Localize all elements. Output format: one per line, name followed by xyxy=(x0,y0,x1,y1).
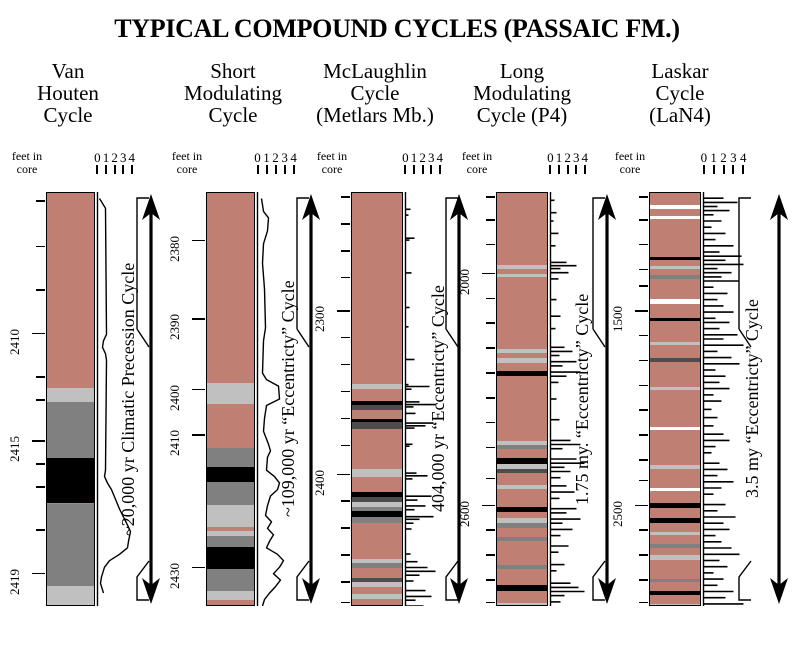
rank-scale-tick xyxy=(284,165,286,174)
depth-tick xyxy=(341,196,350,198)
depth-tick xyxy=(341,223,350,225)
depth-tick xyxy=(639,602,648,604)
depth-tick xyxy=(639,579,648,581)
litho-band xyxy=(650,548,700,555)
heading-line: (Metlars Mb.) xyxy=(300,104,450,126)
litho-band xyxy=(650,523,700,532)
rank-scale-label: 3 xyxy=(281,150,288,166)
litho-band xyxy=(497,528,547,538)
rank-scale-ticks xyxy=(254,165,298,174)
depth-tick xyxy=(192,434,205,436)
rank-scale-tick xyxy=(404,165,406,174)
depth-label: 2410 xyxy=(167,412,183,456)
litho-band xyxy=(207,569,254,591)
depth-tick xyxy=(341,500,350,502)
litho-band xyxy=(497,193,547,265)
litho-band xyxy=(47,193,94,388)
litho-band xyxy=(207,600,254,606)
litho-band xyxy=(352,477,402,492)
depth-tick xyxy=(341,445,350,447)
feet-in-core-label-van-houten: feet incore xyxy=(1,150,53,175)
depth-label: 1500 xyxy=(610,288,626,332)
litho-band xyxy=(352,523,402,559)
cycle-arrow-laskar xyxy=(768,194,790,604)
depth-tick xyxy=(639,409,648,411)
depth-rank-scale-van-houten: 01234 xyxy=(94,150,136,174)
rank-scale-tick xyxy=(584,165,586,174)
depth-tick xyxy=(482,273,495,275)
cycle-annotation-short-modulating: ~109,000 yr “Eccentricty” Cycle xyxy=(278,200,299,598)
depth-tick xyxy=(486,447,495,449)
rank-scale-label: 3 xyxy=(573,150,580,166)
rank-scale-tick xyxy=(266,165,268,174)
depth-tick xyxy=(639,554,648,556)
depth-tick xyxy=(486,298,495,300)
depth-rank-scale-laskar: 01234 xyxy=(700,150,748,174)
heading-line: Short xyxy=(168,60,298,82)
depth-rank-scale-mclaughlin: 01234 xyxy=(402,150,444,174)
litho-band xyxy=(650,193,700,205)
litho-band xyxy=(650,279,700,300)
rank-scale-label: 2 xyxy=(111,150,118,166)
depth-tick xyxy=(341,602,350,604)
rank-scale-tick xyxy=(439,165,441,174)
feet-in-core-label-mclaughlin: feet incore xyxy=(306,150,358,175)
rank-scale-tick xyxy=(732,165,734,174)
depth-tick xyxy=(341,391,350,393)
depth-axis-long-modulating: 20002600 xyxy=(455,192,495,606)
depth-tick xyxy=(639,244,648,246)
heading-line: Cycle xyxy=(8,104,128,126)
depth-tick xyxy=(486,579,495,581)
depth-tick xyxy=(337,310,350,312)
litho-band xyxy=(207,404,254,448)
rank-scale-numbers: 01234 xyxy=(402,150,444,165)
depth-label: 2400 xyxy=(167,367,183,411)
litho-band xyxy=(650,595,700,603)
depth-tick xyxy=(337,474,350,476)
rank-scale-label: 4 xyxy=(129,150,136,166)
depth-label: 2380 xyxy=(167,218,183,262)
depth-tick xyxy=(32,333,45,335)
rank-scale-tick xyxy=(430,165,432,174)
rank-scale-ticks xyxy=(94,165,136,174)
depth-label: 2400 xyxy=(312,452,328,496)
depth-tick xyxy=(341,527,350,529)
rank-scale-tick xyxy=(742,165,744,174)
depth-tick xyxy=(486,196,495,198)
depth-tick xyxy=(639,285,648,287)
litho-band xyxy=(650,219,700,256)
rank-scale-tick xyxy=(122,165,124,174)
depth-tick xyxy=(486,347,495,349)
heading-line: Cycle xyxy=(300,82,450,104)
depth-label: 2410 xyxy=(7,311,23,355)
litho-band xyxy=(650,430,700,465)
litho-band xyxy=(497,473,547,485)
rank-scale-label: 1 xyxy=(263,150,270,166)
litho-band xyxy=(207,448,254,467)
heading-line: Modulating xyxy=(168,82,298,104)
depth-tick xyxy=(486,372,495,374)
litho-band xyxy=(650,604,700,606)
litho-band xyxy=(207,591,254,599)
depth-tick xyxy=(36,200,45,202)
litho-band xyxy=(207,547,254,569)
rank-scale-tick xyxy=(131,165,133,174)
litho-band xyxy=(207,482,254,505)
heading-line: Houten xyxy=(8,82,128,104)
depth-axis-laskar: 15002500 xyxy=(608,192,648,606)
depth-tick xyxy=(341,554,350,556)
litho-band xyxy=(650,582,700,591)
litho-band xyxy=(650,304,700,318)
column-heading-long-modulating: Long Modulating Cycle (P4) xyxy=(452,60,592,126)
litho-band xyxy=(497,603,547,606)
rank-scale-label: 3 xyxy=(730,150,737,166)
rank-scale-tick xyxy=(703,165,705,174)
depth-tick xyxy=(639,434,648,436)
feet-in-core-label-laskar: feet incore xyxy=(604,150,656,175)
depth-tick xyxy=(486,529,495,531)
rank-scale-tick xyxy=(275,165,277,174)
feet-label-line: core xyxy=(451,163,503,176)
litho-band xyxy=(352,410,402,419)
cycle-annotation-long-modulating: 1.75 my. “Eccentricty” Cycle xyxy=(572,200,593,598)
litho-band xyxy=(352,587,402,595)
rank-scale-tick xyxy=(293,165,295,174)
litho-band xyxy=(207,383,254,405)
rank-scale-label: 4 xyxy=(582,150,589,166)
depth-tick xyxy=(639,385,648,387)
figure-title: TYPICAL COMPOUND CYCLES (PASSAIC FM.) xyxy=(0,14,794,44)
depth-tick xyxy=(192,389,205,391)
rank-scale-label: 2 xyxy=(419,150,426,166)
litho-band xyxy=(650,390,700,427)
depth-tick xyxy=(486,554,495,556)
feet-label-line: core xyxy=(161,163,213,176)
litho-band xyxy=(650,321,700,342)
depth-tick xyxy=(639,360,648,362)
feet-label-line: core xyxy=(1,163,53,176)
rank-scale-numbers: 01234 xyxy=(254,150,298,165)
depth-label: 2300 xyxy=(312,288,328,332)
depth-tick xyxy=(486,244,495,246)
feet-in-core-label-short-modulating: feet incore xyxy=(161,150,213,175)
depth-tick xyxy=(486,478,495,480)
depth-tick xyxy=(341,277,350,279)
depth-tick xyxy=(486,602,495,604)
rank-scale-ticks xyxy=(402,165,444,174)
litho-band xyxy=(650,362,700,387)
rank-scale-label: 1 xyxy=(411,150,418,166)
depth-tick xyxy=(639,529,648,531)
rank-scale-label: 2 xyxy=(720,150,727,166)
depth-tick xyxy=(341,337,350,339)
depth-label: 2000 xyxy=(457,251,473,295)
feet-label-line: feet in xyxy=(306,150,358,163)
litho-band xyxy=(47,402,94,458)
litho-band xyxy=(352,469,402,477)
depth-label: 2390 xyxy=(167,296,183,340)
rank-scale-tick xyxy=(575,165,577,174)
rank-scale-tick xyxy=(558,165,560,174)
rank-scale-tick xyxy=(257,165,259,174)
depth-axis-short-modulating: 23802390240024102430 xyxy=(165,192,205,606)
core-strip-laskar xyxy=(649,192,701,606)
feet-label-line: feet in xyxy=(604,150,656,163)
depth-tick xyxy=(639,480,648,482)
depth-tick xyxy=(32,440,45,442)
depth-tick xyxy=(36,289,45,291)
rank-scale-label: 0 xyxy=(94,150,101,166)
rank-scale-label: 0 xyxy=(254,150,261,166)
depth-tick xyxy=(635,505,648,507)
feet-in-core-label-long-modulating: feet incore xyxy=(451,150,503,175)
litho-band xyxy=(650,209,700,216)
depth-tick xyxy=(36,529,45,531)
core-strip-long-modulating xyxy=(496,192,548,606)
depth-tick xyxy=(192,318,205,320)
cycle-annotation-van-houten: ~20,000 yr Climatic Precession Cycle xyxy=(118,200,139,598)
depth-tick xyxy=(341,364,350,366)
depth-tick xyxy=(192,567,205,569)
core-strip-van-houten xyxy=(46,192,95,606)
litho-band xyxy=(352,389,402,400)
depth-tick xyxy=(639,335,648,337)
litho-band xyxy=(650,560,700,579)
depth-rank-scale-long-modulating: 01234 xyxy=(547,150,589,174)
column-heading-van-houten: Van Houten Cycle xyxy=(8,60,128,126)
depth-tick xyxy=(482,505,495,507)
heading-line: Cycle (P4) xyxy=(452,104,592,126)
rank-scale-ticks xyxy=(700,165,748,174)
litho-band xyxy=(352,422,402,429)
depth-label: 2430 xyxy=(167,545,183,589)
arrow-svg xyxy=(768,194,790,604)
feet-label-line: feet in xyxy=(451,150,503,163)
rank-scale-label: 3 xyxy=(120,150,127,166)
depth-tick xyxy=(36,376,45,378)
litho-band xyxy=(47,388,94,402)
heading-line: Long xyxy=(452,60,592,82)
cycle-arrow-van-houten xyxy=(140,194,162,604)
figure-root: TYPICAL COMPOUND CYCLES (PASSAIC FM.) Va… xyxy=(0,0,794,654)
litho-band xyxy=(497,489,547,507)
rank-scale-label: 2 xyxy=(564,150,571,166)
column-heading-short-modulating: Short Modulating Cycle xyxy=(168,60,298,126)
litho-band xyxy=(352,193,402,384)
depth-label: 2415 xyxy=(7,418,23,462)
heading-line: (LaN4) xyxy=(610,104,750,126)
litho-band xyxy=(47,586,94,606)
rank-scale-tick xyxy=(713,165,715,174)
rank-scale-label: 1 xyxy=(103,150,110,166)
rank-scale-tick xyxy=(567,165,569,174)
depth-axis-van-houten: 241024152419 xyxy=(5,192,45,606)
rank-scale-tick xyxy=(105,165,107,174)
heading-line: McLaughlin xyxy=(300,60,450,82)
rank-scale-label: 1 xyxy=(556,150,563,166)
litho-band xyxy=(650,491,700,503)
depth-label: 2500 xyxy=(610,483,626,527)
rank-scale-label: 2 xyxy=(272,150,279,166)
litho-band xyxy=(650,345,700,357)
depth-tick xyxy=(36,486,45,488)
depth-tick xyxy=(486,219,495,221)
litho-band xyxy=(207,536,254,547)
depth-tick xyxy=(341,581,350,583)
depth-tick xyxy=(341,418,350,420)
depth-tick xyxy=(639,459,648,461)
litho-band xyxy=(497,277,547,349)
feet-label-line: feet in xyxy=(1,150,53,163)
rank-scale-tick xyxy=(413,165,415,174)
litho-band xyxy=(47,504,94,587)
depth-label: 2419 xyxy=(7,551,23,595)
depth-tick xyxy=(639,219,648,221)
litho-band xyxy=(47,458,94,504)
rank-scale-tick xyxy=(96,165,98,174)
rank-scale-label: 4 xyxy=(740,150,747,166)
rank-scale-tick xyxy=(723,165,725,174)
heading-line: Van xyxy=(8,60,128,82)
litho-band xyxy=(207,505,254,527)
core-strip-mclaughlin xyxy=(351,192,403,606)
litho-band xyxy=(497,376,547,442)
rank-scale-label: 1 xyxy=(710,150,717,166)
rank-scale-label: 0 xyxy=(402,150,409,166)
litho-band xyxy=(352,568,402,577)
depth-tick xyxy=(36,463,45,465)
litho-band xyxy=(650,469,700,488)
feet-label-line: feet in xyxy=(161,150,213,163)
depth-rank-scale-short-modulating: 01234 xyxy=(254,150,298,174)
rank-scale-label: 3 xyxy=(428,150,435,166)
column-heading-mclaughlin: McLaughlin Cycle (Metlars Mb.) xyxy=(300,60,450,126)
core-strip-short-modulating xyxy=(206,192,255,606)
depth-tick xyxy=(639,269,648,271)
depth-tick xyxy=(486,322,495,324)
feet-label-line: core xyxy=(604,163,656,176)
litho-band xyxy=(497,591,547,603)
depth-label: 2600 xyxy=(457,483,473,527)
rank-scale-label: 4 xyxy=(290,150,297,166)
depth-tick xyxy=(192,240,205,242)
depth-tick xyxy=(486,422,495,424)
rank-scale-numbers: 01234 xyxy=(700,150,748,165)
litho-band xyxy=(207,193,254,383)
depth-tick xyxy=(639,196,648,198)
litho-band xyxy=(352,599,402,606)
rank-scale-ticks xyxy=(547,165,589,174)
rank-scale-numbers: 01234 xyxy=(547,150,589,165)
cycle-annotation-mclaughlin: 404,000 yr “Eccentricty” Cycle xyxy=(428,200,449,598)
rank-scale-tick xyxy=(114,165,116,174)
heading-line: Modulating xyxy=(452,82,592,104)
heading-line: Cycle xyxy=(610,82,750,104)
litho-band xyxy=(207,467,254,482)
rank-scale-tick xyxy=(422,165,424,174)
litho-band xyxy=(497,569,547,585)
depth-axis-mclaughlin: 23002400 xyxy=(310,192,350,606)
arrow-svg xyxy=(140,194,162,604)
cycle-annotation-laskar: 3.5 my “Eccentricty” Cycle xyxy=(742,200,763,598)
feet-label-line: core xyxy=(306,163,358,176)
heading-line: Cycle xyxy=(168,104,298,126)
rank-scale-tick xyxy=(549,165,551,174)
depth-tick xyxy=(341,250,350,252)
litho-band xyxy=(497,449,547,458)
litho-band xyxy=(497,363,547,371)
heading-line: Laskar xyxy=(610,60,750,82)
depth-tick xyxy=(486,397,495,399)
depth-tick xyxy=(635,310,648,312)
rank-scale-label: 0 xyxy=(547,150,554,166)
depth-tick xyxy=(36,399,45,401)
litho-band xyxy=(497,541,547,565)
litho-band xyxy=(650,508,700,518)
rank-scale-label: 0 xyxy=(701,150,708,166)
depth-tick xyxy=(36,246,45,248)
rank-scale-label: 4 xyxy=(437,150,444,166)
rank-scale-numbers: 01234 xyxy=(94,150,136,165)
litho-band xyxy=(650,535,700,544)
depth-tick xyxy=(32,573,45,575)
column-heading-laskar: Laskar Cycle (LaN4) xyxy=(610,60,750,126)
litho-band xyxy=(352,429,402,469)
